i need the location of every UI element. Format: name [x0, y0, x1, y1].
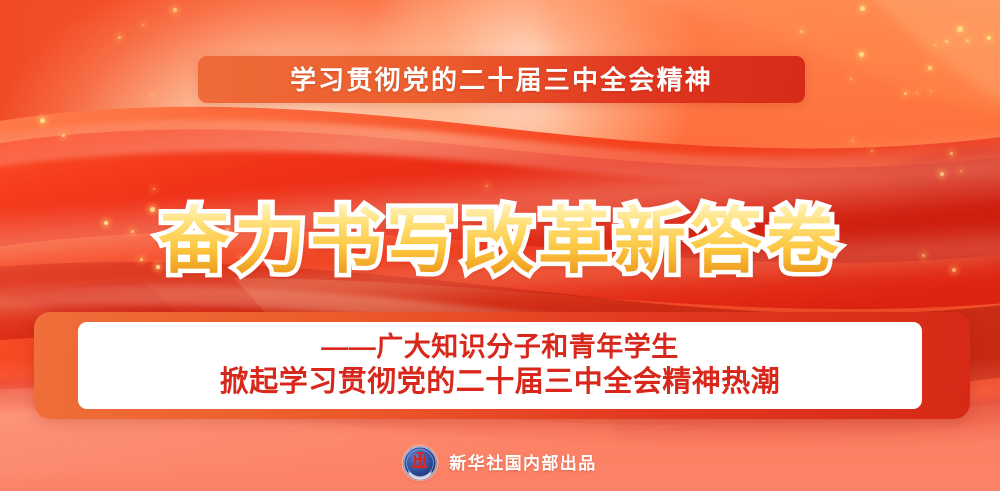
main-headline: 奋力书写改革新答卷 奋力书写改革新答卷: [158, 206, 842, 278]
svg-text:XINHUA: XINHUA: [414, 470, 428, 474]
subtitle-line-1: ——广大知识分子和青年学生: [321, 332, 679, 364]
subtitle-panel: ——广大知识分子和青年学生 掀起学习贯彻党的二十届三中全会精神热潮: [78, 322, 922, 409]
main-headline-text: 奋力书写改革新答卷: [158, 202, 842, 282]
headline-container: 奋力书写改革新答卷 奋力书写改革新答卷: [0, 196, 1000, 288]
poster-canvas: 学习贯彻党的二十届三中全会精神 奋力书写改革新答卷 奋力书写改革新答卷 ——广大…: [0, 0, 1000, 491]
top-banner-text: 学习贯彻党的二十届三中全会精神: [290, 67, 713, 93]
credit-bar: XINHUA 新华社国内部出品: [0, 440, 1000, 486]
subtitle-frame: ——广大知识分子和青年学生 掀起学习贯彻党的二十届三中全会精神热潮: [34, 312, 970, 419]
top-banner-pill: 学习贯彻党的二十届三中全会精神: [198, 56, 805, 103]
xinhua-emblem-icon: XINHUA: [403, 446, 437, 480]
subtitle-line-2: 掀起学习贯彻党的二十届三中全会精神热潮: [220, 365, 781, 399]
credit-text: 新华社国内部出品: [449, 455, 596, 472]
